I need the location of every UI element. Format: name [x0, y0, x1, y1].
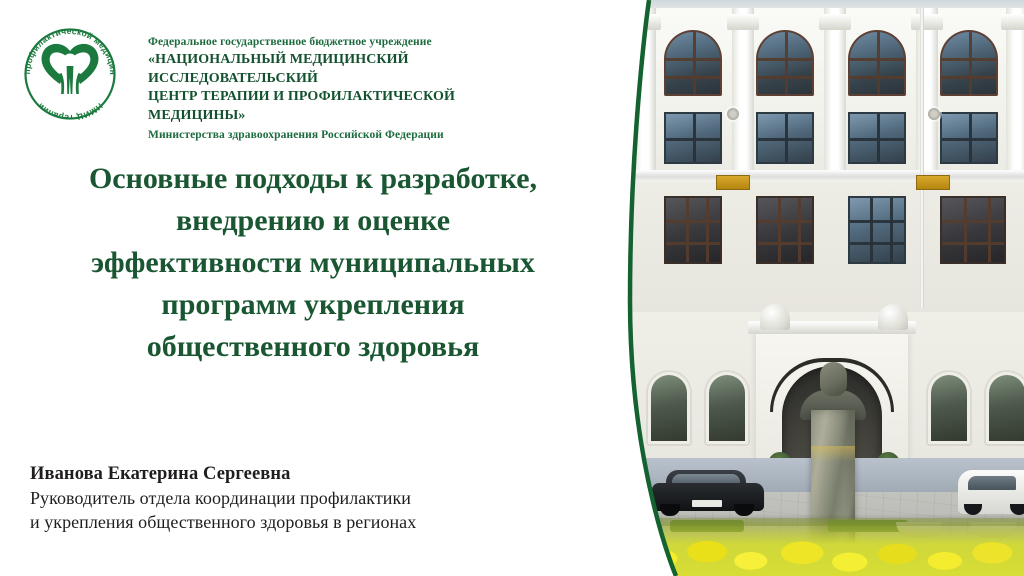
rect-window — [940, 196, 1006, 264]
rect-window — [756, 196, 814, 264]
rect-window — [664, 112, 722, 164]
author-name: Иванова Екатерина Сергеевна — [30, 462, 590, 487]
ground-arched-window — [648, 372, 690, 444]
logo-ring-text-bottom: НМИЦ терапии — [35, 101, 105, 123]
author-role-line-2: и укрепления общественного здоровья в ре… — [30, 511, 590, 535]
header-line-federal: Федеральное государственное бюджетное уч… — [148, 36, 548, 48]
wall-emblem — [727, 108, 739, 120]
author-role-line-1: Руководитель отдела координации профилак… — [30, 487, 590, 511]
drainpipe — [920, 8, 924, 308]
pilaster — [824, 8, 846, 178]
portico-finial — [760, 304, 790, 330]
title-line-2: внедрению и оценке — [28, 200, 598, 242]
header-line-ministry: Министерства здравоохранения Российской … — [148, 129, 548, 141]
rect-window — [756, 112, 814, 164]
title-line-5: общественного здоровья — [28, 326, 598, 368]
header-line-center-1: «НАЦИОНАЛЬНЫЙ МЕДИЦИНСКИЙ ИССЛЕДОВАТЕЛЬС… — [148, 51, 548, 88]
pilaster — [732, 8, 754, 178]
arched-window — [756, 30, 814, 96]
nmic-emblem-logo: и профилактической медицины НМИЦ терапии — [14, 18, 126, 130]
title-slide: и профилактической медицины НМИЦ терапии… — [0, 0, 1024, 576]
pilaster — [1006, 8, 1024, 178]
ground-arched-window — [706, 372, 748, 444]
portico-finial — [878, 304, 908, 330]
rect-window — [848, 112, 906, 164]
arched-window — [940, 30, 998, 96]
header-line-center-2: ЦЕНТР ТЕРАПИИ И ПРОФИЛАКТИЧЕСКОЙ МЕДИЦИН… — [148, 88, 548, 125]
title-line-3: эффективности муниципальных — [28, 242, 598, 284]
arched-window — [848, 30, 906, 96]
wall-emblem — [928, 108, 940, 120]
logo-ring-text-top: и профилактической медицины — [14, 18, 118, 75]
organization-header: Федеральное государственное бюджетное уч… — [148, 36, 548, 141]
rect-window — [664, 196, 722, 264]
rect-window — [940, 112, 998, 164]
ground-arched-window — [928, 372, 970, 444]
author-block: Иванова Екатерина Сергеевна Руководитель… — [30, 462, 590, 534]
entrance-plaque — [716, 175, 750, 190]
yellow-flower-bed — [628, 518, 1024, 576]
title-line-4: программ укрепления — [28, 284, 598, 326]
cornice — [628, 170, 1024, 182]
rect-window — [848, 196, 906, 264]
ground-arched-window — [986, 372, 1024, 444]
pilaster — [634, 8, 656, 178]
arched-window — [664, 30, 722, 96]
black-sedan — [652, 470, 764, 516]
institute-building-photo — [628, 0, 1024, 576]
entrance-plaque — [916, 175, 950, 190]
page-title: Основные подходы к разработке, внедрению… — [28, 158, 598, 368]
title-line-1: Основные подходы к разработке, — [28, 158, 598, 200]
white-car — [958, 470, 1024, 514]
logo-heart-figure — [42, 44, 99, 94]
